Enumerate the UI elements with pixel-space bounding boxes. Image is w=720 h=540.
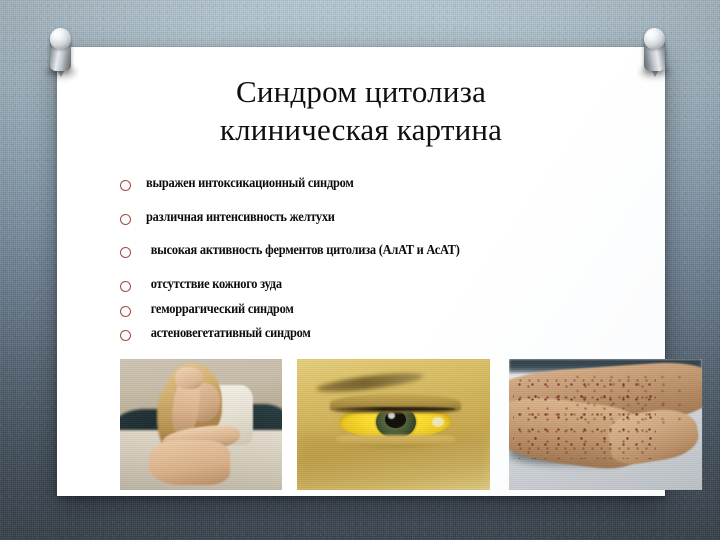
list-item-label: высокая активность ферментов цитолиза (А… [146,242,592,259]
list-item-label: геморрагический синдром [146,301,592,318]
circle-bullet-icon [120,247,131,258]
photo-hemorrhagic-rash-legs [509,359,702,490]
photo-fatigue-woman [120,359,282,490]
list-item-label: отсутствие кожного зуда [146,276,592,293]
list-item: отсутствие кожного зуда [120,276,620,293]
circle-bullet-icon [120,330,131,341]
list-item-label: астеновегетативный синдром [146,325,592,342]
slide-card: Синдром цитолиза клиническая картина выр… [57,47,665,496]
list-item: различная интенсивность желтухи [120,209,620,226]
list-item-label: различная интенсивность желтухи [146,209,592,226]
list-item: выражен интоксикационный синдром [120,175,620,192]
list-item: астеновегетативный синдром [120,325,620,342]
pushpin-head [644,28,665,49]
list-item: геморрагический синдром [120,301,620,318]
page-title-line-1: Синдром цитолиза [57,73,665,111]
slide-stage: Синдром цитолиза клиническая картина выр… [0,0,720,540]
circle-bullet-icon [120,180,131,191]
bullet-list: выражен интоксикационный синдром различн… [120,175,620,350]
page-title-line-2: клиническая картина [57,111,665,149]
list-item-label: выражен интоксикационный синдром [146,175,592,192]
list-item: высокая активность ферментов цитолиза (А… [120,242,620,259]
circle-bullet-icon [120,214,131,225]
photo-strip [62,359,660,492]
circle-bullet-icon [120,306,131,317]
circle-bullet-icon [120,281,131,292]
page-title: Синдром цитолиза клиническая картина [57,73,665,150]
pushpin-head [50,28,71,49]
photo-jaundiced-eye [297,359,490,490]
